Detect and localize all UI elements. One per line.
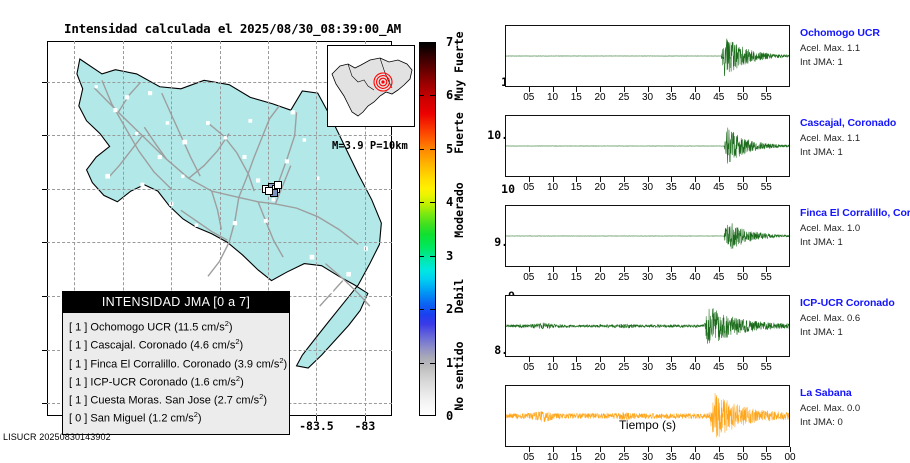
waveform-station-info: La SabanaAcel. Max. 0.0Int JMA: 0 bbox=[800, 387, 910, 428]
waveform-tick-label: 30 bbox=[642, 362, 653, 373]
waveform-tick-label: 10 bbox=[547, 92, 558, 103]
legend-accel-tail: ) bbox=[240, 340, 244, 352]
legend-row: [ 1 ] ICP-UCR Coronado (1.6 cm/s2) bbox=[69, 372, 282, 390]
waveform-max-acceleration: Acel. Max. 0.6 bbox=[800, 313, 910, 324]
legend-intensity: [ 1 ] bbox=[69, 358, 87, 370]
waveform-tick-label: 55 bbox=[761, 272, 772, 283]
colorbar-tickmark bbox=[419, 95, 424, 96]
waveform-tick-label: 10 bbox=[547, 272, 558, 283]
waveform-tick-label: 45 bbox=[713, 272, 724, 283]
waveform-tick-label: 20 bbox=[594, 452, 605, 463]
waveform-max-acceleration: Acel. Max. 1.1 bbox=[800, 43, 910, 54]
waveform-tick-label: 05 bbox=[523, 92, 534, 103]
waveform-tick-label: 25 bbox=[618, 92, 629, 103]
map-lon-tick: -83 bbox=[335, 419, 395, 433]
waveform-tick-label: 35 bbox=[666, 182, 677, 193]
waveform-station-info: Cascajal, CoronadoAcel. Max. 1.1Int JMA:… bbox=[800, 117, 910, 158]
legend-acceleration: (3.9 cm/s bbox=[234, 358, 279, 370]
waveform-tick-label: 35 bbox=[666, 362, 677, 373]
waveform-tick-label: 10 bbox=[547, 362, 558, 373]
waveform-xaxis: 0510152025303540455055 bbox=[505, 268, 790, 282]
waveform-tick-label: 20 bbox=[594, 362, 605, 373]
waveform-tick-label: 05 bbox=[523, 362, 534, 373]
legend-header: INTENSIDAD JMA [0 a 7] bbox=[63, 292, 289, 313]
waveform-trace bbox=[506, 296, 789, 356]
waveform-tick-label: 50 bbox=[737, 182, 748, 193]
legend-intensity: [ 1 ] bbox=[69, 340, 87, 352]
legend-station-name: Cascajal. Coronado bbox=[90, 340, 187, 352]
intensity-legend: INTENSIDAD JMA [0 a 7] [ 1 ] Ochomogo UC… bbox=[62, 291, 290, 435]
waveform-panel[interactable] bbox=[505, 115, 790, 177]
legend-station-name: ICP-UCR Coronado bbox=[90, 376, 187, 388]
waveform-tick-label: 40 bbox=[689, 452, 700, 463]
waveform-tick-label: 40 bbox=[689, 182, 700, 193]
waveform-tick-label: 30 bbox=[642, 452, 653, 463]
waveform-tick-label: 30 bbox=[642, 182, 653, 193]
waveform-tick-label: 40 bbox=[689, 92, 700, 103]
legend-intensity: [ 0 ] bbox=[69, 413, 87, 425]
waveform-xaxis-title: Tiempo (s) bbox=[505, 418, 790, 432]
waveform-tick-label: 05 bbox=[523, 272, 534, 283]
colorbar-tickmark bbox=[430, 256, 435, 257]
waveform-tick-label: 15 bbox=[571, 452, 582, 463]
waveform-tick-label: 25 bbox=[618, 362, 629, 373]
waveform-tick-label: 10 bbox=[547, 182, 558, 193]
waveform-tick-label: 45 bbox=[713, 452, 724, 463]
waveform-station-name[interactable]: Cascajal, Coronado bbox=[800, 117, 910, 129]
waveform-max-acceleration: Acel. Max. 1.0 bbox=[800, 223, 910, 234]
waveform-station-name[interactable]: La Sabana bbox=[800, 387, 910, 399]
colorbar-tick: 0 bbox=[424, 409, 486, 423]
legend-station-name: Cuesta Moras. San Jose bbox=[90, 395, 210, 407]
waveform-tick-label: 55 bbox=[761, 92, 772, 103]
footer-stamp: LISUCR 20250830143902 bbox=[3, 432, 111, 442]
legend-acceleration: (4.6 cm/s bbox=[190, 340, 235, 352]
waveform-station-name[interactable]: ICP-UCR Coronado bbox=[800, 297, 910, 309]
waveform-tick-label: 15 bbox=[571, 182, 582, 193]
waveform-station-name[interactable]: Ochomogo UCR bbox=[800, 27, 910, 39]
waveform-tick-label: 20 bbox=[594, 182, 605, 193]
page-title: Intensidad calculada el 2025/08/30_08:39… bbox=[0, 21, 465, 36]
waveform-tick-label: 20 bbox=[594, 92, 605, 103]
colorbar-tickmark bbox=[430, 149, 435, 150]
waveform-tick-label: 00 bbox=[784, 452, 795, 463]
station-marker[interactable] bbox=[274, 181, 282, 189]
colorbar-tickmark bbox=[430, 202, 435, 203]
waveform-tick-label: 35 bbox=[666, 92, 677, 103]
legend-row: [ 1 ] Cuesta Moras. San Jose (2.7 cm/s2) bbox=[69, 390, 282, 408]
waveform-station-info: Ochomogo UCRAcel. Max. 1.1Int JMA: 1 bbox=[800, 27, 910, 68]
waveform-xaxis: 0510152025303540455055 bbox=[505, 88, 790, 102]
map-gridline bbox=[316, 41, 317, 416]
legend-station-name: Finca El Corralillo. Coronado bbox=[90, 358, 231, 370]
colorbar-category: Muy Fuerte bbox=[452, 31, 466, 100]
map-tickmark bbox=[42, 242, 47, 243]
waveform-tick-label: 40 bbox=[689, 272, 700, 283]
legend-acceleration: (1.2 cm/s bbox=[149, 413, 194, 425]
legend-row: [ 0 ] San Miguel (1.2 cm/s2) bbox=[69, 408, 282, 426]
waveform-tick-label: 05 bbox=[523, 452, 534, 463]
waveform-tick-label: 35 bbox=[666, 272, 677, 283]
waveform-tick-label: 30 bbox=[642, 92, 653, 103]
colorbar-tickmark bbox=[419, 149, 424, 150]
waveform-tick-label: 50 bbox=[737, 362, 748, 373]
colorbar-tickmark bbox=[419, 309, 424, 310]
epicenter-icon bbox=[374, 73, 392, 91]
magnitude-depth-label: M=3.9 P=10km bbox=[332, 140, 408, 152]
waveform-tick-label: 40 bbox=[689, 362, 700, 373]
colorbar-tickmark bbox=[419, 256, 424, 257]
waveform-tick-label: 30 bbox=[642, 272, 653, 283]
waveform-xaxis: 0510152025303540455055 bbox=[505, 358, 790, 372]
colorbar-category: Debil bbox=[452, 278, 466, 313]
waveform-tick-label: 35 bbox=[666, 452, 677, 463]
map-tickmark bbox=[42, 403, 47, 404]
map-tickmark bbox=[316, 416, 317, 421]
map-tickmark bbox=[365, 416, 366, 421]
legend-intensity: [ 1 ] bbox=[69, 395, 87, 407]
waveform-panel[interactable] bbox=[505, 295, 790, 357]
waveform-tick-label: 15 bbox=[571, 362, 582, 373]
colorbar-tickmark bbox=[419, 202, 424, 203]
waveform-panel[interactable] bbox=[505, 205, 790, 267]
legend-accel-tail: ) bbox=[263, 395, 267, 407]
waveform-tick-label: 20 bbox=[594, 272, 605, 283]
legend-acceleration: (1.6 cm/s bbox=[191, 376, 236, 388]
waveform-tick-label: 25 bbox=[618, 272, 629, 283]
waveform-station-info: ICP-UCR CoronadoAcel. Max. 0.6Int JMA: 1 bbox=[800, 297, 910, 338]
waveform-max-acceleration: Acel. Max. 0.0 bbox=[800, 403, 910, 414]
waveform-jma-intensity: Int JMA: 1 bbox=[800, 327, 910, 338]
legend-row: [ 1 ] Finca El Corralillo. Coronado (3.9… bbox=[69, 354, 282, 372]
waveform-station-name[interactable]: Finca El Corralillo, Coro bbox=[800, 207, 910, 219]
legend-intensity: [ 1 ] bbox=[69, 322, 87, 334]
waveform-jma-intensity: Int JMA: 1 bbox=[800, 237, 910, 248]
waveform-max-acceleration: Acel. Max. 1.1 bbox=[800, 133, 910, 144]
legend-station-name: Ochomogo UCR bbox=[90, 322, 171, 334]
waveform-jma-intensity: Int JMA: 0 bbox=[800, 417, 910, 428]
station-marker[interactable] bbox=[265, 187, 273, 195]
map-tickmark bbox=[42, 82, 47, 83]
map-tickmark bbox=[42, 350, 47, 351]
waveform-tick-label: 10 bbox=[547, 452, 558, 463]
colorbar-tickmark bbox=[430, 309, 435, 310]
legend-accel-tail: ) bbox=[229, 322, 233, 334]
colorbar-tickmark bbox=[419, 363, 424, 364]
waveform-xaxis: 0510152025303540455055 bbox=[505, 178, 790, 192]
legend-rows: [ 1 ] Ochomogo UCR (11.5 cm/s2)[ 1 ] Cas… bbox=[63, 313, 289, 434]
colorbar-tickmark bbox=[430, 95, 435, 96]
colorbar-category: No sentido bbox=[452, 341, 466, 410]
waveform-station-info: Finca El Corralillo, CoroAcel. Max. 1.0I… bbox=[800, 207, 910, 248]
waveform-tick-label: 25 bbox=[618, 452, 629, 463]
waveform-tick-label: 05 bbox=[523, 182, 534, 193]
legend-row: [ 1 ] Ochomogo UCR (11.5 cm/s2) bbox=[69, 317, 282, 335]
waveform-tick-label: 50 bbox=[737, 452, 748, 463]
waveform-panel[interactable] bbox=[505, 385, 790, 447]
waveform-trace bbox=[506, 26, 789, 86]
legend-accel-tail: ) bbox=[240, 376, 244, 388]
waveform-trace bbox=[506, 116, 789, 176]
waveform-tick-label: 50 bbox=[737, 92, 748, 103]
waveform-tick-label: 55 bbox=[761, 182, 772, 193]
waveform-jma-intensity: Int JMA: 1 bbox=[800, 57, 910, 68]
map-tickmark bbox=[42, 296, 47, 297]
colorbar-tickmark bbox=[430, 363, 435, 364]
waveform-tick-label: 55 bbox=[761, 452, 772, 463]
waveform-trace bbox=[506, 386, 789, 446]
waveform-tick-label: 45 bbox=[713, 362, 724, 373]
colorbar-category: Moderado bbox=[452, 183, 466, 238]
waveform-panel[interactable] bbox=[505, 25, 790, 87]
legend-row: [ 1 ] Cascajal. Coronado (4.6 cm/s2) bbox=[69, 335, 282, 353]
waveform-tick-label: 45 bbox=[713, 92, 724, 103]
map-tickmark bbox=[42, 135, 47, 136]
legend-accel-tail: ) bbox=[284, 358, 288, 370]
waveform-tick-label: 15 bbox=[571, 92, 582, 103]
waveform-trace bbox=[506, 206, 789, 266]
waveform-tick-label: 45 bbox=[713, 182, 724, 193]
map-tickmark bbox=[42, 189, 47, 190]
inset-locator-map bbox=[327, 45, 415, 127]
waveform-tick-label: 15 bbox=[571, 272, 582, 283]
waveform-tick-label: 55 bbox=[761, 362, 772, 373]
legend-intensity: [ 1 ] bbox=[69, 376, 87, 388]
waveform-jma-intensity: Int JMA: 1 bbox=[800, 147, 910, 158]
inset-svg bbox=[328, 46, 414, 126]
legend-acceleration: (11.5 cm/s bbox=[174, 322, 225, 334]
waveform-tick-label: 25 bbox=[618, 182, 629, 193]
legend-acceleration: (2.7 cm/s bbox=[214, 395, 259, 407]
waveform-tick-label: 50 bbox=[737, 272, 748, 283]
legend-station-name: San Miguel bbox=[90, 413, 145, 425]
legend-accel-tail: ) bbox=[198, 413, 202, 425]
colorbar-category: Fuerte bbox=[452, 112, 466, 154]
